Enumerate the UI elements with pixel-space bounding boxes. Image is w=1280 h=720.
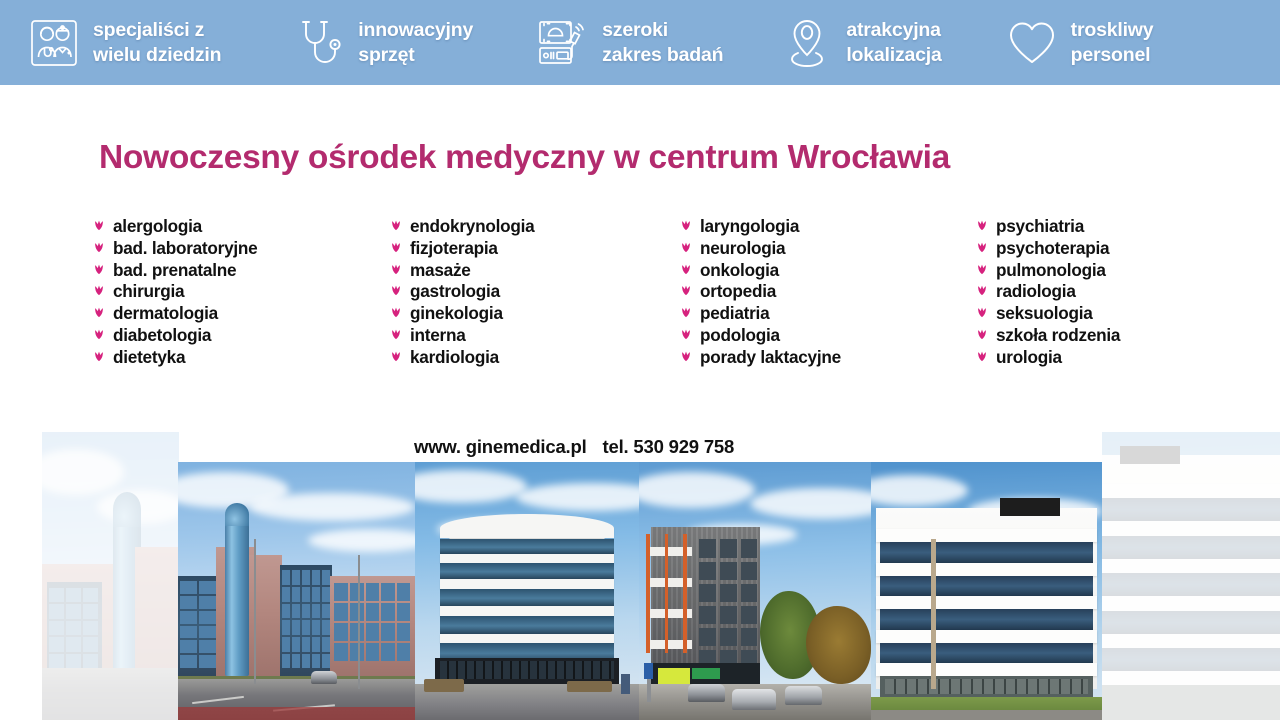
tulip-bullet-icon — [92, 284, 106, 298]
tulip-bullet-icon — [92, 263, 106, 277]
tulip-bullet-icon — [975, 328, 989, 342]
tulip-bullet-icon — [389, 306, 403, 320]
service-item[interactable]: neurologia — [679, 238, 841, 260]
photo-brick-office-faded — [42, 432, 179, 720]
photo-round-white-building — [415, 462, 639, 720]
service-label: psychoterapia — [996, 238, 1109, 259]
services-list: alergologia bad. laboratoryjne bad. pren… — [0, 216, 1280, 386]
tulip-bullet-icon — [975, 284, 989, 298]
service-label: pediatria — [700, 303, 769, 324]
service-label: chirurgia — [113, 281, 184, 302]
tulip-bullet-icon — [92, 219, 106, 233]
banner-feature-specialists: specjaliści z wielu dziedzin — [26, 0, 221, 85]
service-label: urologia — [996, 347, 1062, 368]
service-label: gastrologia — [410, 281, 500, 302]
service-label: ginekologia — [410, 303, 503, 324]
building-photo-strip — [0, 425, 1280, 720]
service-label: szkoła rodzenia — [996, 325, 1120, 346]
service-label: dermatologia — [113, 303, 218, 324]
service-item[interactable]: gastrologia — [389, 281, 534, 303]
service-label: radiologia — [996, 281, 1076, 302]
service-item[interactable]: ginekologia — [389, 303, 534, 325]
tulip-bullet-icon — [975, 263, 989, 277]
tulip-bullet-icon — [389, 263, 403, 277]
service-label: ortopedia — [700, 281, 776, 302]
service-item[interactable]: interna — [389, 325, 534, 347]
service-label: alergologia — [113, 216, 202, 237]
service-label: fizjoterapia — [410, 238, 498, 259]
banner-feature-equipment: innowacyjny sprzęt — [291, 0, 473, 85]
page-title: Nowoczesny ośrodek medyczny w centrum Wr… — [99, 139, 950, 177]
service-label: seksuologia — [996, 303, 1093, 324]
tulip-bullet-icon — [389, 350, 403, 364]
service-item[interactable]: porady laktacyjne — [679, 347, 841, 369]
tulip-bullet-icon — [389, 328, 403, 342]
phone-number[interactable]: tel. 530 929 758 — [603, 436, 735, 458]
service-label: bad. prenatalne — [113, 260, 236, 281]
banner-feature-label: troskliwy personel — [1071, 18, 1154, 68]
banner-feature-label: innowacyjny sprzęt — [358, 18, 473, 68]
service-item[interactable]: pediatria — [679, 303, 841, 325]
service-item[interactable]: diabetologia — [92, 325, 258, 347]
service-label: diabetologia — [113, 325, 211, 346]
service-label: masaże — [410, 260, 471, 281]
service-label: neurologia — [700, 238, 785, 259]
service-item[interactable]: urologia — [975, 347, 1120, 369]
service-item[interactable]: alergologia — [92, 216, 258, 238]
banner-feature-label: szeroki zakres badań — [602, 18, 723, 68]
banner-feature-examinations: szeroki zakres badań — [535, 0, 723, 85]
service-label: psychiatria — [996, 216, 1084, 237]
service-label: kardiologia — [410, 347, 499, 368]
service-label: laryngologia — [700, 216, 799, 237]
tulip-bullet-icon — [679, 350, 693, 364]
heart-icon — [1004, 15, 1060, 71]
service-label: interna — [410, 325, 466, 346]
tulip-bullet-icon — [389, 219, 403, 233]
two-doctors-icon — [26, 15, 82, 71]
tulip-bullet-icon — [975, 306, 989, 320]
tulip-bullet-icon — [389, 284, 403, 298]
service-item[interactable]: ortopedia — [679, 281, 841, 303]
service-label: bad. laboratoryjne — [113, 238, 258, 259]
tulip-bullet-icon — [679, 284, 693, 298]
banner-feature-staff: troskliwy personel — [1004, 0, 1154, 85]
service-item[interactable]: fizjoterapia — [389, 238, 534, 260]
tulip-bullet-icon — [679, 219, 693, 233]
website-link[interactable]: www. ginemedica.pl — [414, 436, 587, 458]
service-item[interactable]: bad. laboratoryjne — [92, 238, 258, 260]
service-item[interactable]: radiologia — [975, 281, 1120, 303]
tulip-bullet-icon — [389, 241, 403, 255]
service-item[interactable]: psychiatria — [975, 216, 1120, 238]
services-column-3: laryngologia neurologia onkologia ortope… — [679, 216, 841, 369]
service-item[interactable]: kardiologia — [389, 347, 534, 369]
tulip-bullet-icon — [679, 328, 693, 342]
photo-brick-office — [178, 462, 415, 720]
contact-info: www. ginemedica.pl tel. 530 929 758 — [414, 436, 734, 458]
tulip-bullet-icon — [92, 328, 106, 342]
tulip-bullet-icon — [679, 241, 693, 255]
features-banner: specjaliści z wielu dziedzin innowacyjny… — [0, 0, 1280, 85]
service-label: podologia — [700, 325, 780, 346]
service-item[interactable]: psychoterapia — [975, 238, 1120, 260]
service-item[interactable]: masaże — [389, 260, 534, 282]
service-item[interactable]: onkologia — [679, 260, 841, 282]
ultrasound-machine-icon — [535, 15, 591, 71]
service-label: endokrynologia — [410, 216, 534, 237]
photo-dark-stone-building — [639, 462, 871, 720]
tulip-bullet-icon — [92, 350, 106, 364]
service-item[interactable]: endokrynologia — [389, 216, 534, 238]
service-item[interactable]: pulmonologia — [975, 260, 1120, 282]
photo-white-clinic — [871, 462, 1102, 720]
service-label: porady laktacyjne — [700, 347, 841, 368]
service-item[interactable]: szkoła rodzenia — [975, 325, 1120, 347]
tulip-bullet-icon — [679, 263, 693, 277]
tulip-bullet-icon — [975, 350, 989, 364]
tulip-bullet-icon — [92, 241, 106, 255]
service-item[interactable]: bad. prenatalne — [92, 260, 258, 282]
services-column-2: endokrynologia fizjoterapia masaże gastr… — [389, 216, 534, 369]
banner-feature-label: specjaliści z wielu dziedzin — [93, 18, 221, 68]
service-item[interactable]: seksuologia — [975, 303, 1120, 325]
services-column-4: psychiatria psychoterapia pulmonologia r… — [975, 216, 1120, 369]
tulip-bullet-icon — [92, 306, 106, 320]
service-item[interactable]: chirurgia — [92, 281, 258, 303]
service-label: pulmonologia — [996, 260, 1106, 281]
stethoscope-icon — [291, 15, 347, 71]
service-item[interactable]: dermatologia — [92, 303, 258, 325]
photo-white-clinic-faded — [1102, 432, 1280, 720]
service-label: onkologia — [700, 260, 779, 281]
tulip-bullet-icon — [975, 241, 989, 255]
service-item[interactable]: podologia — [679, 325, 841, 347]
services-column-1: alergologia bad. laboratoryjne bad. pren… — [92, 216, 258, 369]
tulip-bullet-icon — [975, 219, 989, 233]
map-pin-icon — [779, 15, 835, 71]
banner-feature-location: atrakcyjna lokalizacja — [779, 0, 941, 85]
service-label: dietetyka — [113, 347, 185, 368]
banner-feature-label: atrakcyjna lokalizacja — [846, 18, 941, 68]
tulip-bullet-icon — [679, 306, 693, 320]
service-item[interactable]: laryngologia — [679, 216, 841, 238]
service-item[interactable]: dietetyka — [92, 347, 258, 369]
